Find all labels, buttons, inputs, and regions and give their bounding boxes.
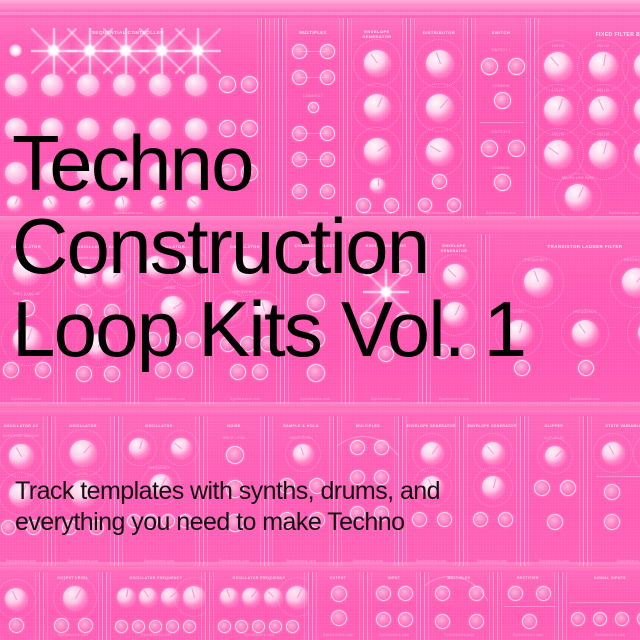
subtitle-line-2: everything you need to make Techno (15, 507, 635, 538)
subtitle-line-1: Track templates with synths, drums, and (15, 476, 635, 507)
title-line-3: Loop Kits Vol. 1 (12, 288, 640, 371)
album-subtitle: Track templates with synths, drums, and … (15, 476, 635, 538)
title-line-2: Construction (12, 205, 640, 288)
title-line-1: Techno (12, 122, 640, 205)
album-cover: SEQUENTIAL CONTROLLER (0, 0, 640, 640)
album-title: Techno Construction Loop Kits Vol. 1 (12, 122, 640, 371)
cover-typography: Techno Construction Loop Kits Vol. 1 Tra… (0, 0, 640, 640)
